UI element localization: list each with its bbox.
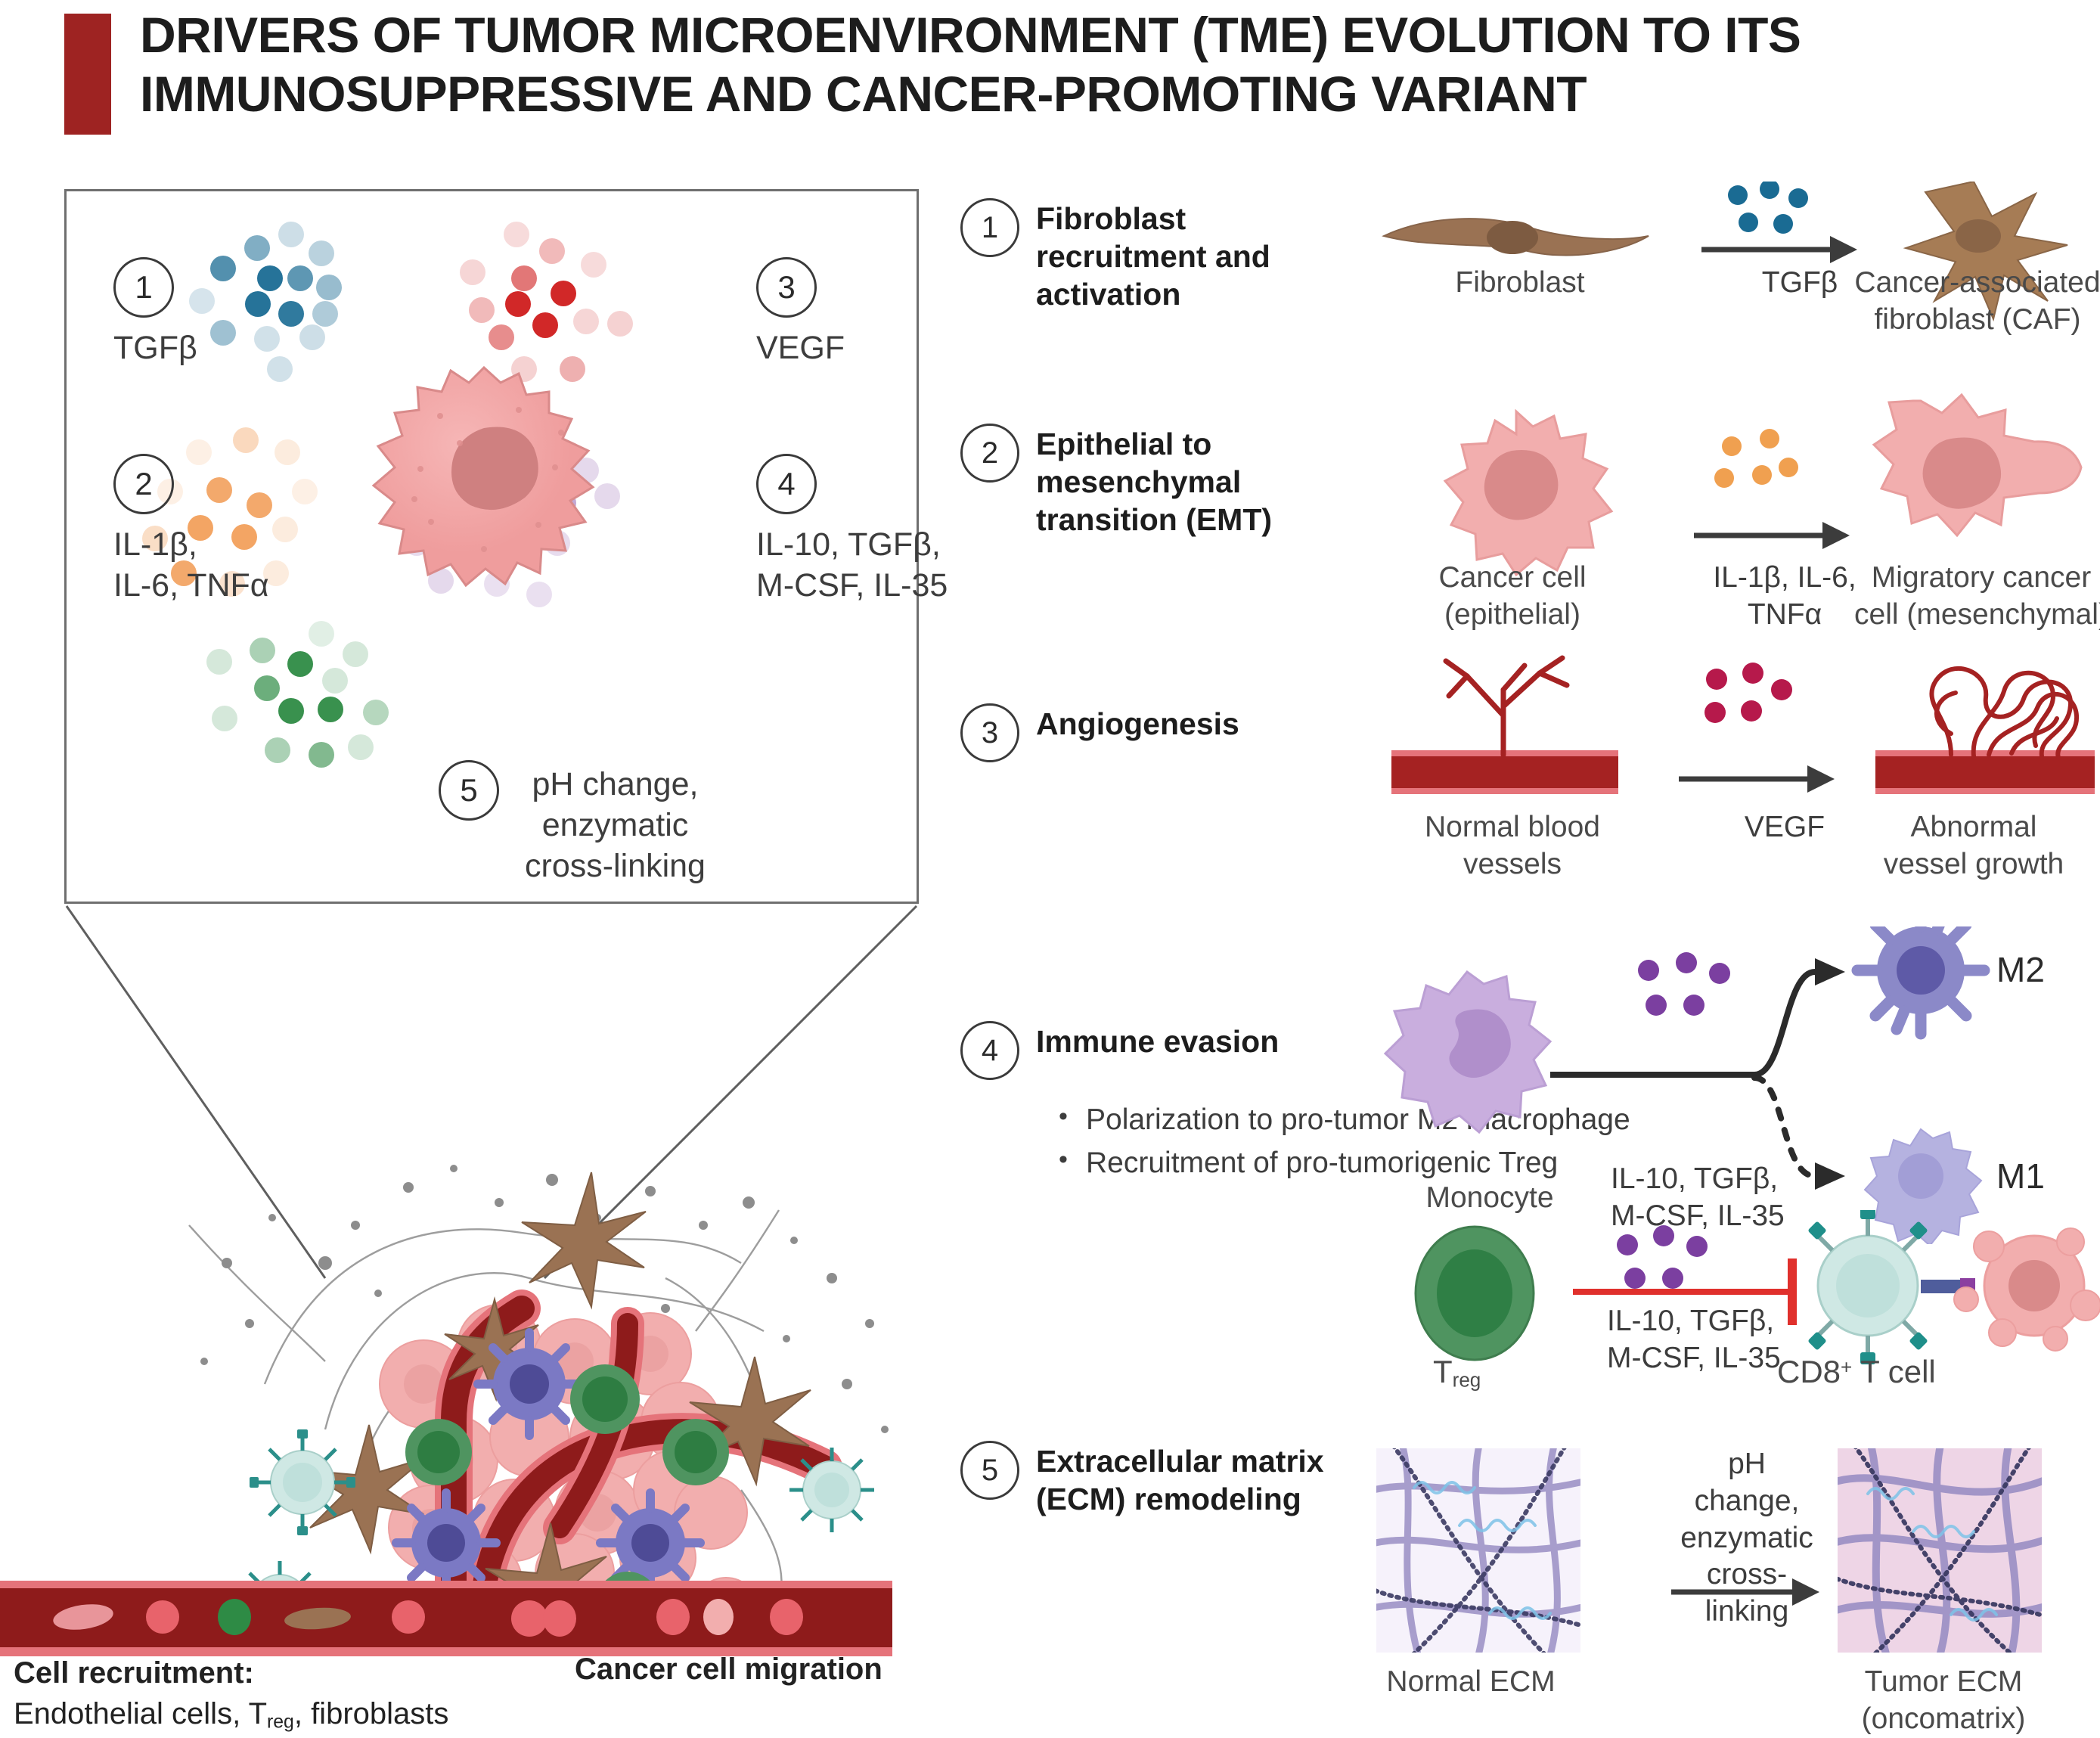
vegf-signal-dots bbox=[1705, 663, 1792, 723]
step-4b-treg-label: Treg bbox=[1433, 1354, 1481, 1392]
step-1-right-label: Cancer-associated fibroblast (CAF) bbox=[1853, 265, 2100, 339]
cell-recruitment-caption: Cell recruitment: Endothelial cells, Tre… bbox=[14, 1653, 448, 1735]
monocyte-cell bbox=[1385, 972, 1550, 1132]
tme-label-5-text: pH change, enzymatic cross-linking bbox=[525, 765, 706, 886]
step-1-left-label: Fibroblast bbox=[1376, 265, 1664, 302]
m2-macrophage-cell bbox=[1857, 926, 1984, 1034]
normal-vessel-base bbox=[1391, 755, 1618, 788]
tme-label-3-text: VEGF bbox=[756, 328, 845, 369]
step-5-title: Extracellular matrix (ECM) remodeling bbox=[1036, 1441, 1324, 1518]
step-2-right-label: Migratory cancer cell (mesenchymal) bbox=[1853, 560, 2100, 634]
dot-cluster-ph bbox=[206, 621, 389, 768]
tumor-microenvironment-illustration bbox=[0, 1134, 953, 1649]
tme-number-5: 5 bbox=[439, 760, 499, 821]
tme-label-3: 3 VEGF bbox=[756, 257, 845, 369]
tgfb-signal-dots bbox=[1728, 182, 1808, 234]
step-5-right-label: Tumor ECM (oncomatrix) bbox=[1815, 1664, 2072, 1738]
step-2-title: Epithelial to mesenchymal transition (EM… bbox=[1036, 424, 1272, 538]
tme-label-1-text: TGFβ bbox=[113, 328, 197, 369]
step-4b-cd8-label: CD8+ T cell bbox=[1777, 1354, 1936, 1390]
abnormal-vessel-base bbox=[1875, 755, 2095, 788]
il10-signal-dots-step4 bbox=[1638, 952, 1730, 1016]
abnormal-vessel-tangle bbox=[1931, 669, 2077, 758]
il10-signal-dots-step4b bbox=[1617, 1225, 1708, 1289]
cell-recruitment-detail: Endothelial cells, Treg, fibroblasts bbox=[14, 1693, 448, 1735]
main-blood-vessel bbox=[0, 1581, 892, 1662]
tme-central-cancer-cell bbox=[371, 363, 597, 590]
step-4b-target-cancer-cell bbox=[1954, 1228, 2100, 1351]
normal-vessel-sprout bbox=[1446, 658, 1567, 755]
step-4-branch-arrow bbox=[1550, 958, 1845, 1190]
tme-label-2-text: IL-1β, IL-6, TNFα bbox=[113, 525, 269, 607]
step-1-title: Fibroblast recruitment and activation bbox=[1036, 198, 1270, 313]
step-1-number: 1 bbox=[960, 198, 1019, 257]
step-4-number: 4 bbox=[960, 1021, 1019, 1080]
il1b-signal-dots bbox=[1714, 429, 1798, 488]
tme-label-2: 2 IL-1β, IL-6, TNFα bbox=[113, 454, 269, 607]
cancer-cell-migration-caption: Cancer cell migration bbox=[575, 1653, 882, 1687]
tme-number-4: 4 bbox=[756, 454, 817, 514]
tme-label-4: 4 IL-10, TGFβ, M-CSF, IL-35 bbox=[756, 454, 948, 607]
dot-cluster-vegf bbox=[460, 222, 633, 382]
tme-label-4-text: IL-10, TGFβ, M-CSF, IL-35 bbox=[756, 525, 948, 607]
step-3-right-label: Abnormal vessel growth bbox=[1845, 809, 2100, 883]
step-2-left-label: Cancer cell (epithelial) bbox=[1369, 560, 1656, 634]
step-4-m2-label: M2 bbox=[1996, 949, 2045, 990]
step-3-number: 3 bbox=[960, 703, 1019, 762]
step-5-number: 5 bbox=[960, 1441, 1019, 1500]
step-2-number: 2 bbox=[960, 424, 1019, 483]
step-3-left-label: Normal blood vessels bbox=[1361, 809, 1664, 883]
tme-label-5: 5 pH change, enzymatic cross-linking bbox=[439, 760, 706, 886]
title-accent-bar bbox=[64, 14, 111, 135]
page-title: DRIVERS OF TUMOR MICROENVIRONMENT (TME) … bbox=[140, 6, 1917, 124]
tme-number-3: 3 bbox=[756, 257, 817, 318]
tme-number-2: 2 bbox=[113, 454, 174, 514]
step-5-mid-label: pH change, enzymatic cross- linking bbox=[1664, 1446, 1830, 1631]
cell-recruitment-title: Cell recruitment: bbox=[14, 1656, 254, 1690]
title-bar: DRIVERS OF TUMOR MICROENVIRONMENT (TME) … bbox=[0, 0, 2100, 155]
title-line-2: IMMUNOSUPPRESSIVE AND CANCER-PROMOTING V… bbox=[140, 65, 1917, 124]
step-4-m1-label: M1 bbox=[1996, 1156, 2045, 1196]
tme-label-1: 1 TGFβ bbox=[113, 257, 197, 369]
step-5-left-label: Normal ECM bbox=[1354, 1664, 1588, 1701]
epithelial-cancer-cell bbox=[1445, 411, 1611, 575]
dot-cluster-tgfb bbox=[189, 222, 342, 382]
treg-cell bbox=[1416, 1227, 1534, 1360]
tme-number-1: 1 bbox=[113, 257, 174, 318]
migratory-cancer-cell bbox=[1874, 395, 2081, 535]
step-3-title: Angiogenesis bbox=[1036, 703, 1239, 743]
step-4-title: Immune evasion bbox=[1036, 1021, 1279, 1060]
title-line-1: DRIVERS OF TUMOR MICROENVIRONMENT (TME) … bbox=[140, 6, 1917, 65]
